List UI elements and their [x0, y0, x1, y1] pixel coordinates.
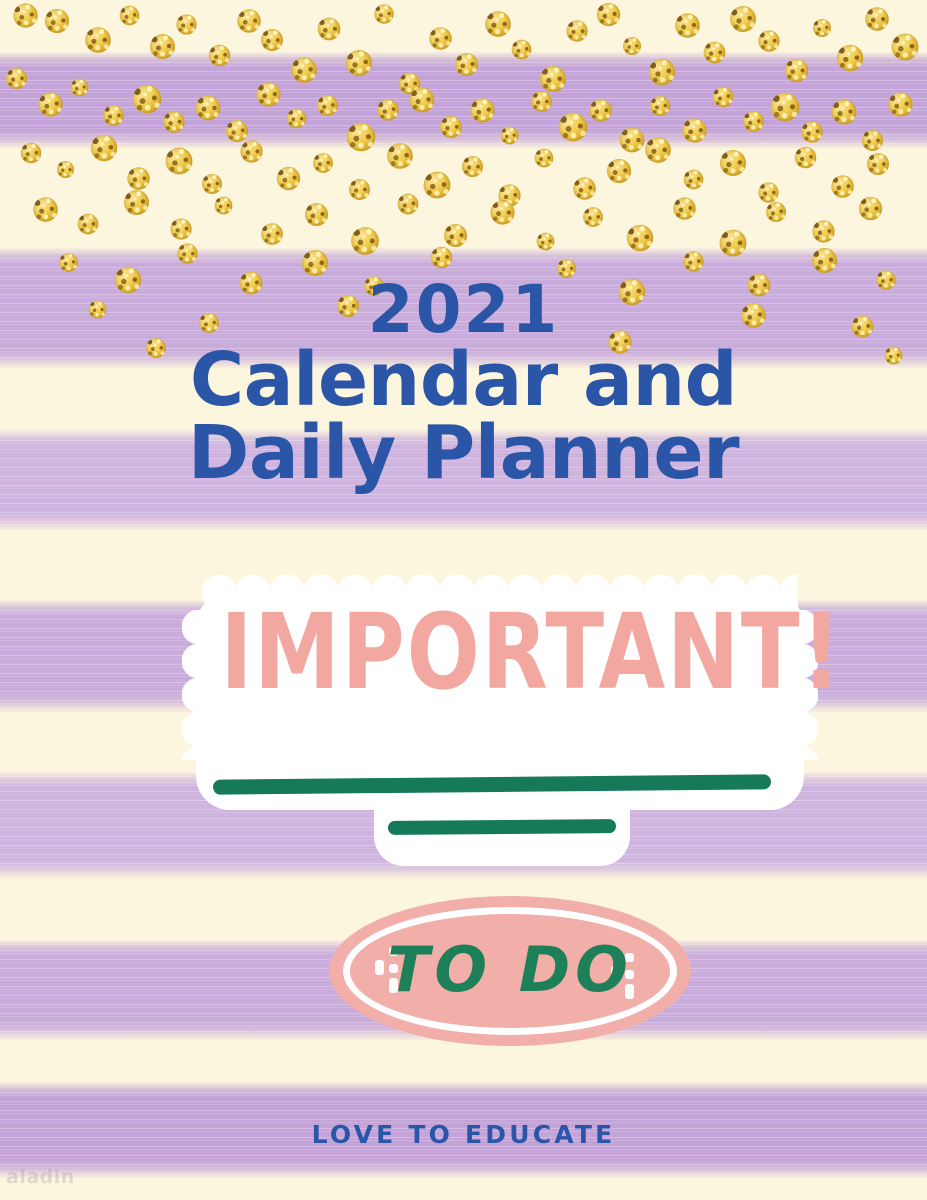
todo-label: TO DO — [329, 896, 691, 1046]
green-rule-short — [388, 819, 616, 835]
book-cover: 2021 Calendar and Daily Planner IMPORTAN… — [0, 0, 927, 1200]
title-year: 2021 — [0, 278, 927, 341]
todo-badge: TO DO — [329, 896, 691, 1046]
title-line-2: Daily Planner — [0, 418, 927, 489]
publisher-imprint: LOVE TO EDUCATE — [0, 1120, 927, 1149]
important-label: IMPORTANT! — [220, 600, 779, 704]
title-line-1: Calendar and — [0, 345, 927, 416]
sticker-scallop-left — [182, 610, 216, 760]
cover-title-block: 2021 Calendar and Daily Planner — [0, 278, 927, 489]
corner-watermark: aladin — [6, 1166, 75, 1188]
